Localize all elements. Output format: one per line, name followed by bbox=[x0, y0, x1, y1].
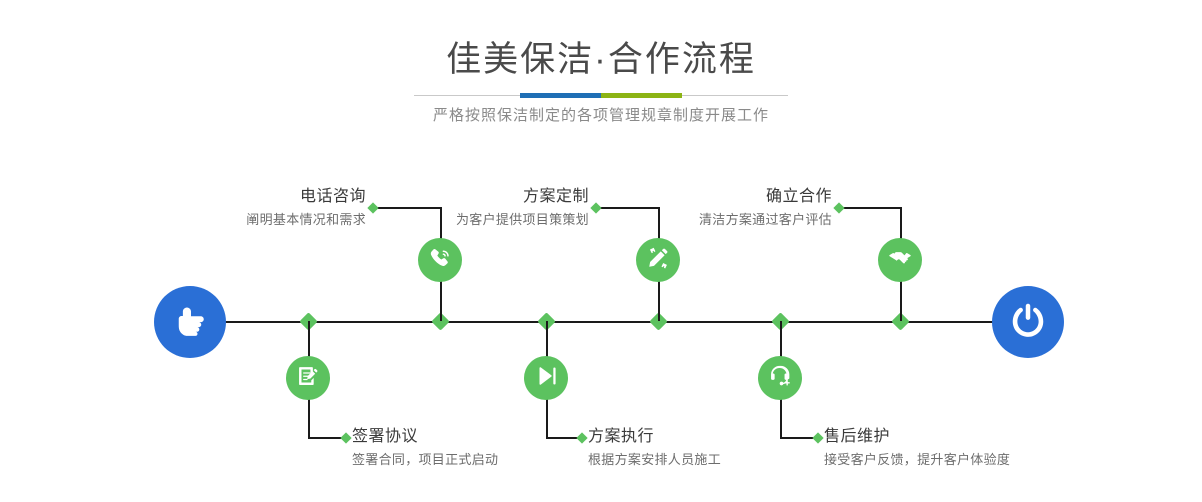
flow-diagram-page: 佳美保洁·合作流程 严格按照保洁制定的各项管理规章制度开展工作 bbox=[0, 0, 1202, 502]
timeline-end-node[interactable] bbox=[992, 286, 1064, 358]
step-label-3: 方案定制 为客户提供项目策策划 bbox=[410, 186, 589, 230]
headset-support-icon bbox=[767, 363, 793, 394]
power-icon bbox=[1008, 300, 1048, 345]
phone-call-icon bbox=[427, 245, 453, 276]
step-title-6: 售后维护 bbox=[824, 426, 1010, 448]
step-icon-5[interactable] bbox=[878, 238, 922, 282]
step-label-5: 确立合作 清洁方案通过客户评估 bbox=[648, 186, 832, 230]
step-title-5: 确立合作 bbox=[648, 186, 832, 208]
step-desc-6: 接受客户反馈，提升客户体验度 bbox=[824, 450, 1010, 470]
step-label-4: 方案执行 根据方案安排人员施工 bbox=[588, 426, 721, 470]
connector-tip-2 bbox=[340, 432, 351, 443]
play-execute-icon bbox=[533, 363, 559, 394]
hand-pointing-icon bbox=[170, 300, 210, 345]
connector-tip-3 bbox=[590, 202, 601, 213]
step-icon-3[interactable] bbox=[636, 238, 680, 282]
document-sign-icon bbox=[295, 363, 321, 394]
connector-tip-5 bbox=[833, 202, 844, 213]
step-icon-1[interactable] bbox=[418, 238, 462, 282]
connector-tip-1 bbox=[367, 202, 378, 213]
step-desc-4: 根据方案安排人员施工 bbox=[588, 450, 721, 470]
step-title-3: 方案定制 bbox=[410, 186, 589, 208]
connector-tip-6 bbox=[812, 432, 823, 443]
handshake-icon bbox=[887, 245, 913, 276]
step-desc-2: 签署合同，项目正式启动 bbox=[352, 450, 498, 470]
step-desc-3: 为客户提供项目策策划 bbox=[410, 210, 589, 230]
step-desc-5: 清洁方案通过客户评估 bbox=[648, 210, 832, 230]
step-title-4: 方案执行 bbox=[588, 426, 721, 448]
connector-tip-4 bbox=[576, 432, 587, 443]
step-desc-1: 阐明基本情况和需求 bbox=[190, 210, 366, 230]
pencil-ruler-icon bbox=[645, 245, 671, 276]
step-title-2: 签署协议 bbox=[352, 426, 498, 448]
timeline: 电话咨询 阐明基本情况和需求 签署协议 签署合同，项目正式启动 bbox=[0, 0, 1202, 502]
step-icon-4[interactable] bbox=[524, 356, 568, 400]
step-icon-6[interactable] bbox=[758, 356, 802, 400]
timeline-start-node[interactable] bbox=[154, 286, 226, 358]
step-label-2: 签署协议 签署合同，项目正式启动 bbox=[352, 426, 498, 470]
step-label-6: 售后维护 接受客户反馈，提升客户体验度 bbox=[824, 426, 1010, 470]
connector-horizontal-5 bbox=[839, 207, 901, 209]
step-label-1: 电话咨询 阐明基本情况和需求 bbox=[190, 186, 366, 230]
step-icon-2[interactable] bbox=[286, 356, 330, 400]
step-title-1: 电话咨询 bbox=[190, 186, 366, 208]
